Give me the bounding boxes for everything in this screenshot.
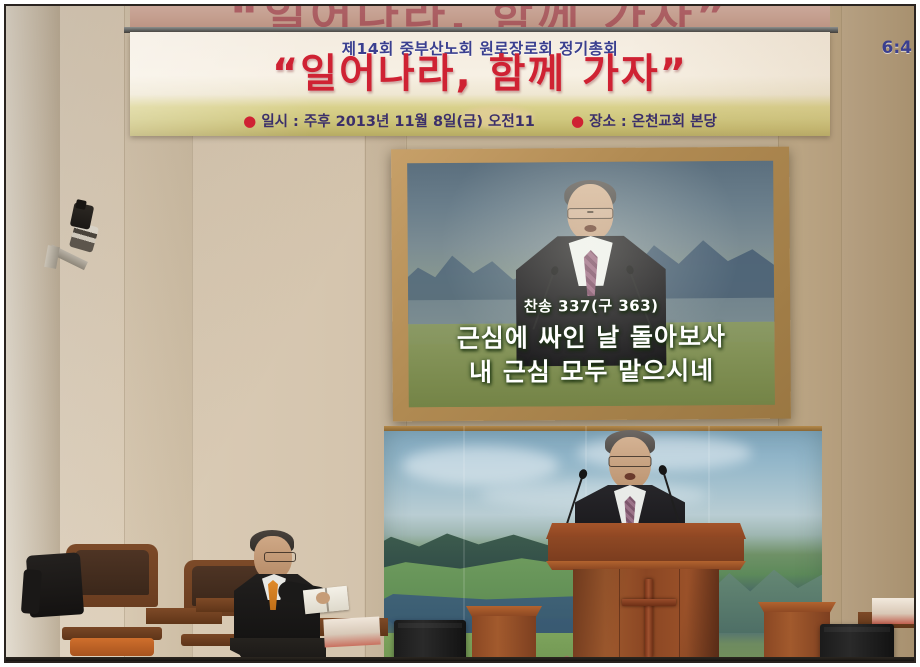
banner-headline: “일어나라, 함께 가자” — [130, 54, 830, 94]
podium-upper — [548, 537, 744, 563]
seated-hand — [316, 592, 330, 604]
projection-screen: 찬송 337(구 363) 근심에 싸인 날 돌아보사 내 근심 모두 맡으시네 — [407, 161, 775, 408]
scripture-reference-fragment: 6:4 — [882, 38, 912, 58]
bag — [26, 552, 84, 618]
projection-screen-frame: 찬송 337(구 363) 근심에 싸인 날 돌아보사 내 근심 모두 맡으시네 — [391, 147, 791, 422]
photograph: “일어나라, 함께 가자” 제14회 중부산노회 원로장로회 정기총회 “일어나… — [6, 6, 914, 661]
loudspeaker-right — [820, 624, 894, 661]
loudspeaker-left — [394, 620, 466, 661]
chair-cushion — [70, 638, 155, 656]
wall-seam — [841, 6, 842, 661]
screen-lyric-line-1: 근심에 싸인 날 돌아보사 — [408, 317, 774, 356]
speaker-mouth — [625, 473, 636, 480]
pedestal-left — [466, 606, 542, 661]
glasses-icon — [264, 552, 296, 562]
banner-place: 장소 : 온천교회 본당 — [589, 114, 717, 130]
papers-left — [323, 617, 380, 648]
camera-lens — [75, 199, 87, 210]
seated-elder — [220, 530, 340, 661]
podium — [546, 523, 746, 661]
podium-shading — [573, 569, 719, 661]
stage-floor-edge — [6, 657, 914, 661]
glasses-icon — [609, 456, 652, 467]
event-banner: 제14회 중부산노회 원로장로회 정기총회 “일어나라, 함께 가자” ● 일시… — [130, 32, 830, 136]
chair-pad — [75, 550, 149, 595]
security-camera-icon — [50, 202, 110, 280]
bullet-icon: ● — [571, 112, 584, 130]
camera-wall-plate — [44, 245, 60, 269]
banner-date: 일시 : 주후 2013년 11월 8일(금) 오전11 — [261, 114, 535, 130]
screen-hymn-number: 찬송 337(구 363) — [408, 294, 774, 318]
papers-right — [872, 598, 914, 624]
screen-lyric-line-2: 내 근심 모두 맡으시네 — [408, 351, 774, 390]
photo-frame: “일어나라, 함께 가자” 제14회 중부산노회 원로장로회 정기총회 “일어나… — [0, 0, 920, 667]
bullet-icon: ● — [243, 112, 256, 130]
pedestal-body — [472, 616, 536, 661]
banner-details: ● 일시 : 주후 2013년 11월 8일(금) 오전11 ● 장소 : 온천… — [130, 110, 830, 131]
photo-border: “일어나라, 함께 가자” 제14회 중부산노회 원로장로회 정기총회 “일어나… — [4, 4, 916, 663]
backdrop-cloud — [402, 446, 560, 486]
